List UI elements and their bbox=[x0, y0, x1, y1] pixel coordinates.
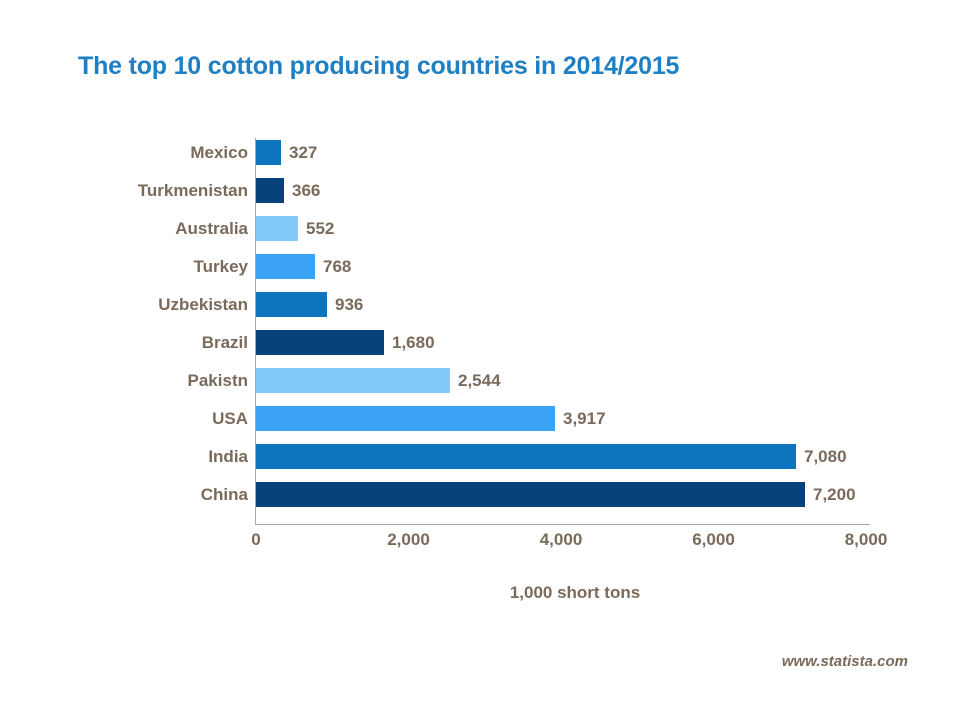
category-label: Pakistn bbox=[188, 368, 248, 393]
bar-value-label: 3,917 bbox=[563, 406, 606, 431]
bar bbox=[256, 140, 281, 165]
bar-row: Mexico327 bbox=[0, 140, 960, 178]
x-tick-label: 0 bbox=[251, 530, 260, 550]
category-label: USA bbox=[212, 406, 248, 431]
bar-row: Uzbekistan936 bbox=[0, 292, 960, 330]
x-tick-label: 2,000 bbox=[387, 530, 430, 550]
x-axis-line bbox=[255, 524, 870, 525]
bar-row: Pakistn2,544 bbox=[0, 368, 960, 406]
bar bbox=[256, 444, 796, 469]
category-label: Australia bbox=[175, 216, 248, 241]
bar bbox=[256, 330, 384, 355]
category-label: Brazil bbox=[202, 330, 248, 355]
bar bbox=[256, 178, 284, 203]
category-label: China bbox=[201, 482, 248, 507]
bar bbox=[256, 406, 555, 431]
bar-row: Australia552 bbox=[0, 216, 960, 254]
category-label: Uzbekistan bbox=[158, 292, 248, 317]
category-label: India bbox=[208, 444, 248, 469]
bar-row: Turkmenistan366 bbox=[0, 178, 960, 216]
bar bbox=[256, 216, 298, 241]
x-tick-label: 6,000 bbox=[692, 530, 735, 550]
bar-row: Brazil1,680 bbox=[0, 330, 960, 368]
bar bbox=[256, 254, 315, 279]
category-label: Mexico bbox=[190, 140, 248, 165]
bar-row: Turkey768 bbox=[0, 254, 960, 292]
x-tick-label: 4,000 bbox=[540, 530, 583, 550]
bar-value-label: 936 bbox=[335, 292, 363, 317]
bar-value-label: 768 bbox=[323, 254, 351, 279]
bar-value-label: 552 bbox=[306, 216, 334, 241]
bar-value-label: 366 bbox=[292, 178, 320, 203]
x-axis-title-label: 1,000 short tons bbox=[510, 583, 640, 602]
bar bbox=[256, 368, 450, 393]
bar-value-label: 2,544 bbox=[458, 368, 501, 393]
bar-value-label: 1,680 bbox=[392, 330, 435, 355]
bar bbox=[256, 292, 327, 317]
bar-row: China7,200 bbox=[0, 482, 960, 520]
category-label: Turkey bbox=[194, 254, 249, 279]
bar-row: India7,080 bbox=[0, 444, 960, 482]
x-tick-label: 8,000 bbox=[845, 530, 888, 550]
bar bbox=[256, 482, 805, 507]
x-axis-title: 1,000 short tons bbox=[0, 583, 960, 603]
source-watermark: www.statista.com bbox=[782, 653, 908, 670]
bar-chart: The top 10 cotton producing countries in… bbox=[0, 0, 960, 720]
chart-title: The top 10 cotton producing countries in… bbox=[78, 52, 679, 81]
bar-value-label: 7,200 bbox=[813, 482, 856, 507]
bar-value-label: 7,080 bbox=[804, 444, 847, 469]
plot-area: Mexico327Turkmenistan366Australia552Turk… bbox=[0, 136, 960, 526]
bar-row: USA3,917 bbox=[0, 406, 960, 444]
bar-value-label: 327 bbox=[289, 140, 317, 165]
category-label: Turkmenistan bbox=[138, 178, 248, 203]
